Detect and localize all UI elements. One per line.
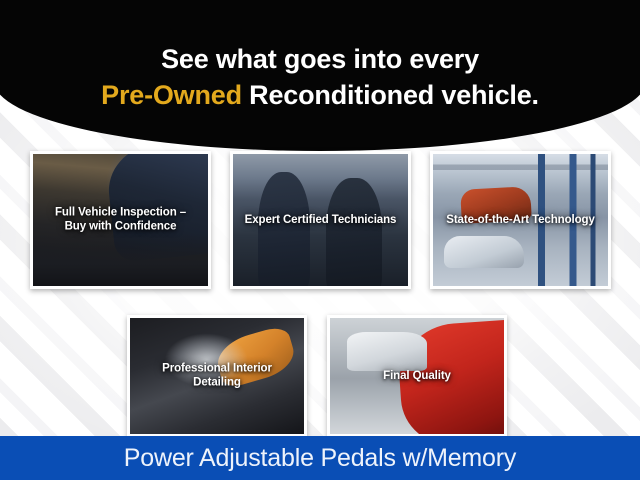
header-banner: See what goes into every Pre-Owned Recon… (0, 0, 640, 151)
feature-card-label-line-1: Professional Interior (162, 363, 272, 375)
feature-card-label: Expert Certified Technicians (237, 213, 404, 227)
card-inner: Full Vehicle Inspection – Buy with Confi… (33, 154, 208, 286)
headline-accent-text: Pre-Owned (101, 80, 242, 110)
feature-card-label: Professional Interior Detailing (134, 362, 300, 391)
page-title: See what goes into every Pre-Owned Recon… (0, 42, 640, 113)
feature-card-quality[interactable]: Final Quality (327, 315, 507, 437)
feature-card-label-line-1: Full Vehicle Inspection – (55, 207, 186, 219)
feature-card-label: State-of-the-Art Technology (437, 213, 604, 227)
card-inner: Final Quality (330, 318, 504, 434)
feature-card-label-line-1: Final Quality (383, 370, 451, 382)
card-inner: Expert Certified Technicians (233, 154, 408, 286)
feature-card-technicians[interactable]: Expert Certified Technicians (230, 151, 411, 289)
headline-line-1: See what goes into every (161, 44, 479, 74)
feature-card-label-line-1: Expert Certified Technicians (245, 214, 397, 226)
feature-card-label-line-2: Detailing (193, 377, 241, 389)
feature-card-technology[interactable]: State-of-the-Art Technology (430, 151, 611, 289)
card-inner: State-of-the-Art Technology (433, 154, 608, 286)
feature-card-label-line-2: Buy with Confidence (65, 221, 177, 233)
feature-card-detailing[interactable]: Professional Interior Detailing (127, 315, 307, 437)
card-inner: Professional Interior Detailing (130, 318, 304, 434)
feature-card-inspection[interactable]: Full Vehicle Inspection – Buy with Confi… (30, 151, 211, 289)
feature-card-label: Final Quality (334, 369, 500, 383)
headline-line-2: Pre-Owned Reconditioned vehicle. (0, 78, 640, 114)
bottom-banner-text: Power Adjustable Pedals w/Memory (124, 444, 516, 473)
feature-card-label-line-1: State-of-the-Art Technology (446, 214, 595, 226)
feature-card-label: Full Vehicle Inspection – Buy with Confi… (37, 206, 204, 235)
headline-line-2-rest: Reconditioned vehicle. (242, 80, 539, 110)
bottom-banner: Power Adjustable Pedals w/Memory (0, 436, 640, 480)
promo-graphic: See what goes into every Pre-Owned Recon… (0, 0, 640, 480)
